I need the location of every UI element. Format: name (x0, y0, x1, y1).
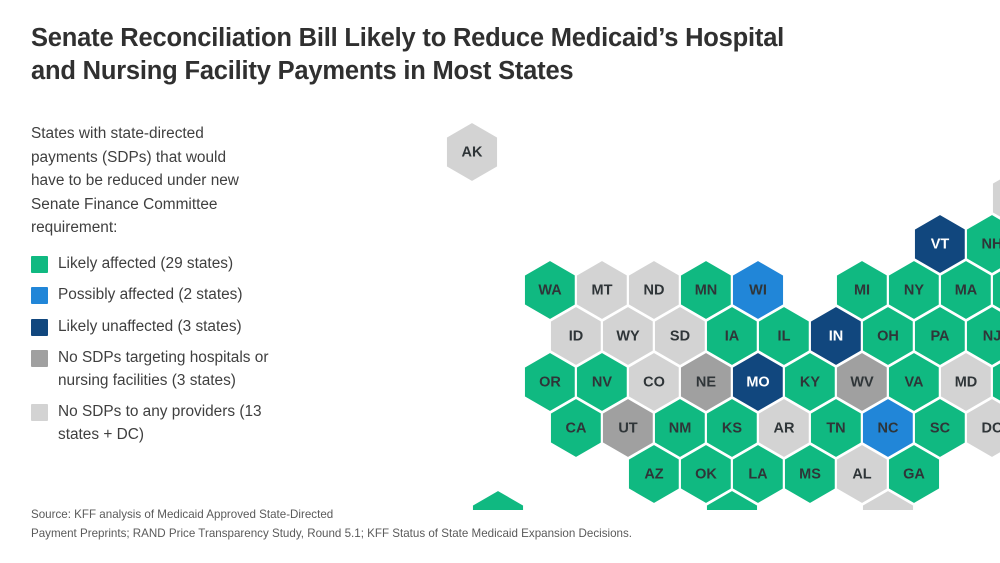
hex-shape-ak[interactable] (446, 122, 498, 182)
legend-label-line: Likely unaffected (3 states) (58, 316, 242, 339)
legend-swatch-unaffected (31, 319, 48, 336)
legend-intro-line-4: Senate Finance Committee (31, 193, 341, 217)
legend-intro-line-5: requirement: (31, 216, 341, 240)
legend-label-possibly: Possibly affected (2 states) (58, 284, 243, 307)
legend-item-possibly: Possibly affected (2 states) (31, 284, 341, 307)
page-title: Senate Reconciliation Bill Likely to Red… (31, 22, 961, 88)
legend-label-line: No SDPs targeting hospitals or (58, 347, 268, 370)
legend-swatch-affected (31, 256, 48, 273)
legend-swatch-no-target (31, 350, 48, 367)
legend: States with state-directed payments (SDP… (31, 122, 341, 455)
legend-item-unaffected: Likely unaffected (3 states) (31, 316, 341, 339)
legend-intro: States with state-directed payments (SDP… (31, 122, 341, 240)
legend-label-line: Possibly affected (2 states) (58, 284, 243, 307)
hex-map-svg: AKMEVTNHWAMTNDMNWIMINYMARIIDWYSDIAILINOH… (320, 100, 1000, 510)
legend-intro-line-1: States with state-directed (31, 122, 341, 146)
legend-intro-line-2: payments (SDPs) that would (31, 146, 341, 170)
source-line-1: Source: KFF analysis of Medicaid Approve… (31, 505, 632, 524)
legend-label-line: Likely affected (29 states) (58, 253, 233, 276)
source-line-2: Payment Preprints; RAND Price Transparen… (31, 524, 632, 543)
legend-label-no-target: No SDPs targeting hospitals ornursing fa… (58, 347, 268, 392)
legend-item-no-target: No SDPs targeting hospitals ornursing fa… (31, 347, 341, 392)
legend-label-line: nursing facilities (3 states) (58, 370, 268, 393)
infographic-page: Senate Reconciliation Bill Likely to Red… (0, 0, 1000, 563)
legend-label-line: states + DC) (58, 424, 262, 447)
legend-item-affected: Likely affected (29 states) (31, 253, 341, 276)
legend-swatch-no-sdp (31, 404, 48, 421)
legend-item-list: Likely affected (29 states)Possibly affe… (31, 253, 341, 447)
legend-label-no-sdp: No SDPs to any providers (13states + DC) (58, 401, 262, 446)
legend-swatch-possibly (31, 287, 48, 304)
title-line-1: Senate Reconciliation Bill Likely to Red… (31, 22, 961, 55)
title-line-2: and Nursing Facility Payments in Most St… (31, 55, 961, 88)
hex-cartogram-map: AKMEVTNHWAMTNDMNWIMINYMARIIDWYSDIAILINOH… (320, 100, 1000, 510)
legend-item-no-sdp: No SDPs to any providers (13states + DC) (31, 401, 341, 446)
legend-label-line: No SDPs to any providers (13 (58, 401, 262, 424)
legend-label-affected: Likely affected (29 states) (58, 253, 233, 276)
hex-state-ak[interactable]: AK (446, 122, 498, 182)
source-note: Source: KFF analysis of Medicaid Approve… (31, 505, 632, 543)
legend-intro-line-3: have to be reduced under new (31, 169, 341, 193)
legend-label-unaffected: Likely unaffected (3 states) (58, 316, 242, 339)
